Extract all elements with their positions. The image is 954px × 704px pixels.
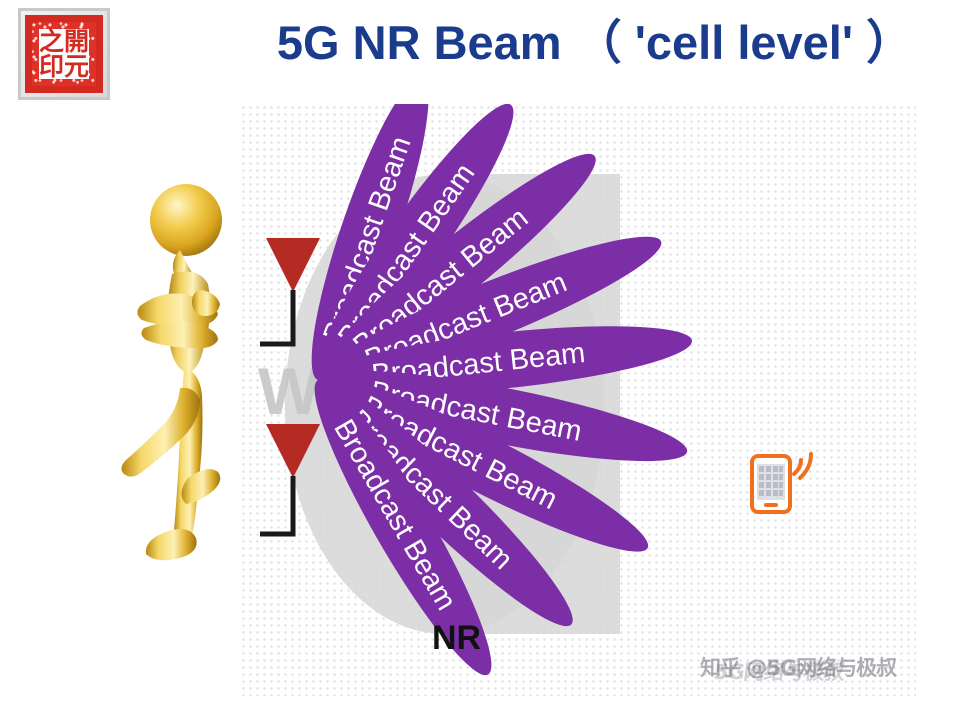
seal-character-4: 元 xyxy=(64,54,89,79)
faint-letter-w: W xyxy=(258,354,321,428)
antenna-bottom xyxy=(258,418,328,543)
antenna-bottom-stem xyxy=(260,476,293,534)
figure-hand xyxy=(192,290,220,316)
gold-person-figure xyxy=(112,178,262,568)
antenna-top xyxy=(258,232,328,352)
seal-character-1: 之 xyxy=(39,29,64,54)
mobile-phone-icon xyxy=(748,440,814,516)
beam-diagram-panel: W Broadcast Beam Broadcast Beam xyxy=(240,104,916,696)
seal-character-grid: 之 開 印 元 xyxy=(39,29,89,79)
seal-character-3: 印 xyxy=(39,54,64,79)
page-title: 5G NR Beam （ 'cell level' ） xyxy=(240,16,950,70)
nr-label: NR xyxy=(432,619,481,657)
kaiyuan-seal-logo: 之 開 印 元 xyxy=(18,8,110,100)
phone-home-button xyxy=(764,503,778,507)
antenna-top-dish-icon xyxy=(266,238,320,292)
figure-foot-front xyxy=(146,529,197,560)
antenna-top-stem xyxy=(260,290,293,344)
beam-diagram-svg: W Broadcast Beam Broadcast Beam xyxy=(240,104,916,696)
seal-red-frame: 之 開 印 元 xyxy=(25,15,103,93)
seal-character-2: 開 xyxy=(64,29,89,54)
figure-head xyxy=(150,184,222,256)
zhihu-watermark: 5G网络与极叔 知乎 @5G网络与极叔 xyxy=(700,652,940,686)
antenna-bottom-dish-icon xyxy=(266,424,320,478)
phone-signal-wave-inner xyxy=(794,460,801,474)
watermark-primary: 知乎 @5G网络与极叔 xyxy=(700,652,896,682)
